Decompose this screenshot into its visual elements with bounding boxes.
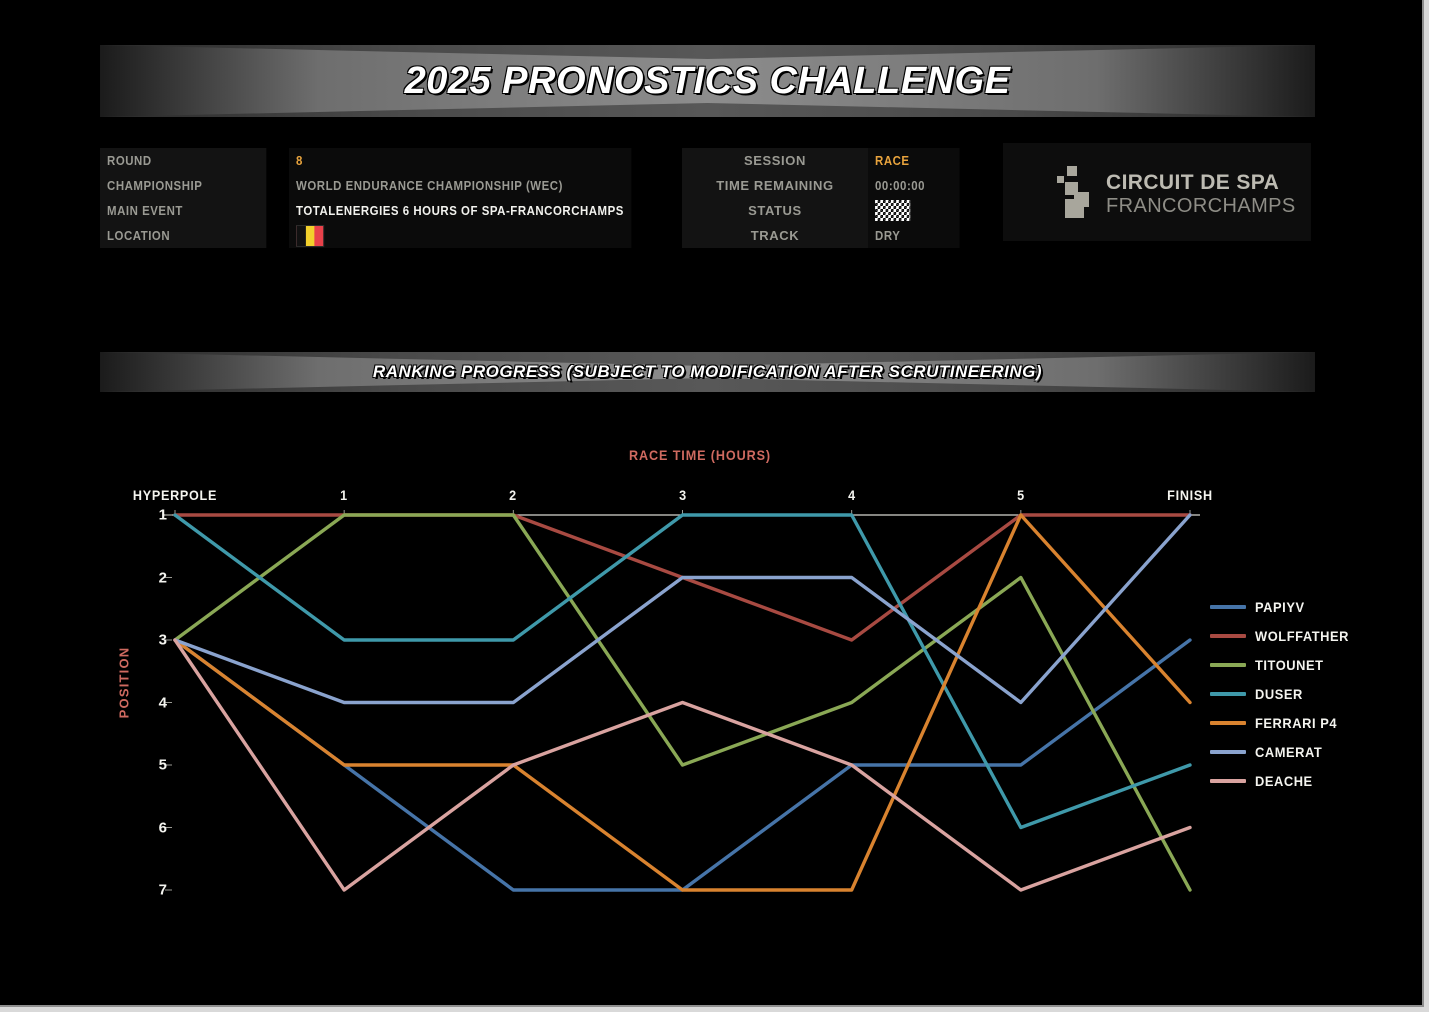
legend-color-swatch xyxy=(1210,779,1246,783)
info-row-label: TRACK xyxy=(682,223,868,248)
info-row-value: TOTALENERGIES 6 HOURS OF SPA-FRANCORCHAM… xyxy=(289,198,631,223)
x-axis-tick-label: 4 xyxy=(848,487,856,503)
chart-x-axis-title: RACE TIME (HOURS) xyxy=(556,447,844,463)
chart-plot-area: HYPERPOLE12345FINISH1234567 xyxy=(175,515,1190,890)
info-row: CHAMPIONSHIPWORLD ENDURANCE CHAMPIONSHIP… xyxy=(100,173,678,198)
info-row-label: TIME REMAINING xyxy=(682,173,868,198)
info-row-label: CHAMPIONSHIP xyxy=(100,173,267,198)
legend-item[interactable]: WOLFFATHER xyxy=(1210,621,1357,650)
info-row: STATUS xyxy=(682,198,972,223)
x-axis-tick-label: FINISH xyxy=(1167,487,1213,503)
app-root: 2025 PRONOSTICS CHALLENGE ROUND8CHAMPION… xyxy=(0,0,1429,1012)
info-row-value xyxy=(868,198,960,223)
info-row: TIME REMAINING00:00:00 xyxy=(682,173,972,198)
session-info-table: SESSIONRACETIME REMAINING00:00:00STATUST… xyxy=(682,148,972,248)
info-row: TRACKDRY xyxy=(682,223,972,248)
circuit-logo: CIRCUIT DE SPA FRANCORCHAMPS xyxy=(1003,143,1311,241)
y-axis-tick-label: 4 xyxy=(147,694,167,711)
legend-item-label: WOLFFATHER xyxy=(1255,628,1349,644)
info-row-value: WORLD ENDURANCE CHAMPIONSHIP (WEC) xyxy=(289,173,631,198)
legend-item-label: PAPIYV xyxy=(1255,599,1305,615)
title-banner: 2025 PRONOSTICS CHALLENGE xyxy=(100,45,1315,117)
legend-item-label: FERRARI P4 xyxy=(1255,715,1337,731)
chart-series-lines xyxy=(175,515,1190,890)
legend-color-swatch xyxy=(1210,605,1246,609)
y-axis-tick-label: 2 xyxy=(147,569,167,586)
info-row-label: STATUS xyxy=(682,198,868,223)
legend-item[interactable]: PAPIYV xyxy=(1210,592,1357,621)
legend-item-label: DUSER xyxy=(1255,686,1303,702)
info-row-value: 8 xyxy=(289,148,631,173)
y-axis-tick-label: 6 xyxy=(147,819,167,836)
info-row-label: SESSION xyxy=(682,148,868,173)
chart-line-series xyxy=(175,515,1190,828)
chart-legend: PAPIYVWOLFFATHERTITOUNETDUSERFERRARI P4C… xyxy=(1210,592,1357,795)
legend-color-swatch xyxy=(1210,750,1246,754)
x-axis-tick-label: 1 xyxy=(340,487,348,503)
logo-line-2: FRANCORCHAMPS xyxy=(1106,196,1296,216)
info-row: LOCATION xyxy=(100,223,678,248)
y-axis-tick-label: 5 xyxy=(147,757,167,774)
legend-color-swatch xyxy=(1210,634,1246,638)
info-row-value: RACE xyxy=(868,148,960,173)
x-axis-tick-label: 3 xyxy=(679,487,687,503)
legend-item-label: TITOUNET xyxy=(1255,657,1324,673)
legend-item[interactable]: DEACHE xyxy=(1210,766,1357,795)
y-axis-tick-label: 1 xyxy=(147,507,167,524)
legend-item-label: CAMERAT xyxy=(1255,744,1322,760)
info-row: SESSIONRACE xyxy=(682,148,972,173)
legend-item[interactable]: CAMERAT xyxy=(1210,737,1357,766)
logo-line-1: CIRCUIT DE SPA xyxy=(1106,172,1296,193)
chart-y-axis-title: POSITION xyxy=(116,647,131,719)
info-row-value: 00:00:00 xyxy=(868,173,960,198)
legend-item-label: DEACHE xyxy=(1255,773,1313,789)
legend-color-swatch xyxy=(1210,692,1246,696)
info-row-label: MAIN EVENT xyxy=(100,198,267,223)
ranking-banner: RANKING PROGRESS (SUBJECT TO MODIFICATIO… xyxy=(100,352,1315,392)
info-row-label: LOCATION xyxy=(100,223,267,248)
legend-color-swatch xyxy=(1210,721,1246,725)
legend-color-swatch xyxy=(1210,663,1246,667)
y-axis-tick-label: 3 xyxy=(147,632,167,649)
info-row: ROUND8 xyxy=(100,148,678,173)
checkered-flag-icon xyxy=(875,200,910,221)
spa-squares-icon xyxy=(1057,166,1095,218)
ranking-banner-label: RANKING PROGRESS (SUBJECT TO MODIFICATIO… xyxy=(373,362,1042,382)
page-title: 2025 PRONOSTICS CHALLENGE xyxy=(405,60,1011,103)
x-axis-tick-label: 5 xyxy=(1017,487,1025,503)
info-row-value xyxy=(289,223,631,248)
x-axis-tick-label: 2 xyxy=(509,487,517,503)
x-axis-tick-label: HYPERPOLE xyxy=(133,487,217,503)
legend-item[interactable]: TITOUNET xyxy=(1210,650,1357,679)
legend-item[interactable]: DUSER xyxy=(1210,679,1357,708)
info-row: MAIN EVENTTOTALENERGIES 6 HOURS OF SPA-F… xyxy=(100,198,678,223)
info-row-label: ROUND xyxy=(100,148,267,173)
info-row-value: DRY xyxy=(868,223,960,248)
event-info-table: ROUND8CHAMPIONSHIPWORLD ENDURANCE CHAMPI… xyxy=(100,148,678,248)
y-axis-tick-label: 7 xyxy=(147,882,167,899)
legend-item[interactable]: FERRARI P4 xyxy=(1210,708,1357,737)
belgium-flag-icon xyxy=(296,225,324,247)
